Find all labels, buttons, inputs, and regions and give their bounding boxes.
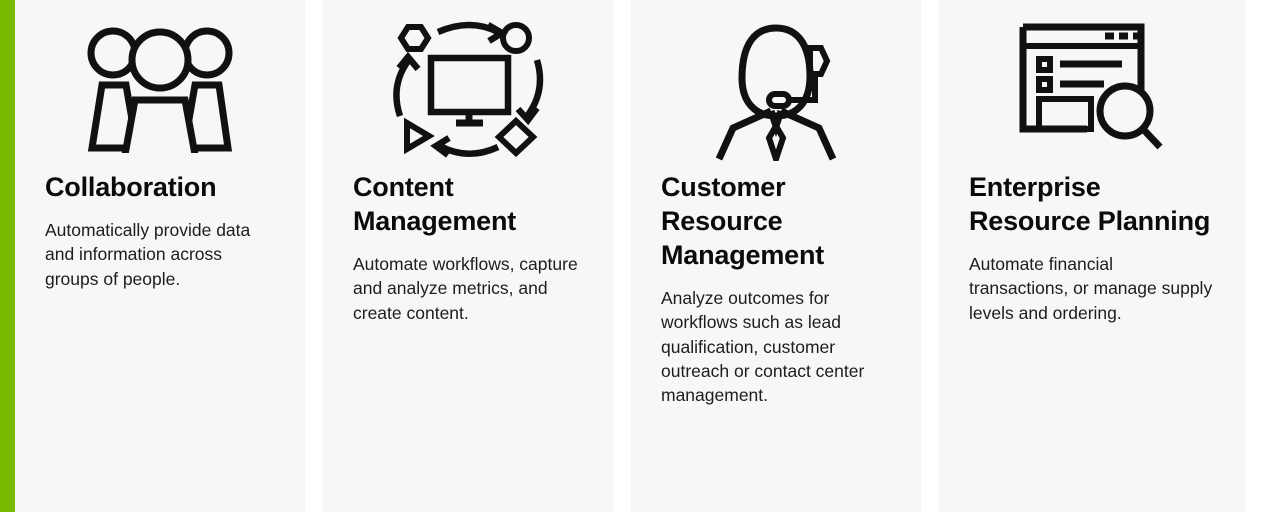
card-title: Customer Resource Management <box>661 170 891 272</box>
feature-card-customer-resource-management[interactable]: Customer Resource Management Analyze out… <box>631 0 921 512</box>
card-title: Content Management <box>353 170 583 238</box>
feature-card-list: Collaboration Automatically provide data… <box>15 0 1280 512</box>
card-description: Automate workflows, capture and analyze … <box>353 252 583 325</box>
people-group-icon <box>45 0 275 170</box>
card-title: Collaboration <box>45 170 275 204</box>
card-description: Automatically provide data and informati… <box>45 218 275 291</box>
card-title: Enterprise Resource Planning <box>969 170 1215 238</box>
content-workflow-cycle-icon <box>353 0 583 170</box>
feature-card-collaboration[interactable]: Collaboration Automatically provide data… <box>15 0 305 512</box>
feature-card-enterprise-resource-planning[interactable]: Enterprise Resource Planning Automate fi… <box>939 0 1245 512</box>
feature-cards-page: Collaboration Automatically provide data… <box>0 0 1280 512</box>
card-description: Automate financial transactions, or mana… <box>969 252 1215 325</box>
browser-window-search-icon <box>969 0 1215 170</box>
headset-agent-icon <box>661 0 891 170</box>
accent-bar <box>0 0 15 512</box>
card-description: Analyze outcomes for workflows such as l… <box>661 286 891 407</box>
feature-card-content-management[interactable]: Content Management Automate workflows, c… <box>323 0 613 512</box>
